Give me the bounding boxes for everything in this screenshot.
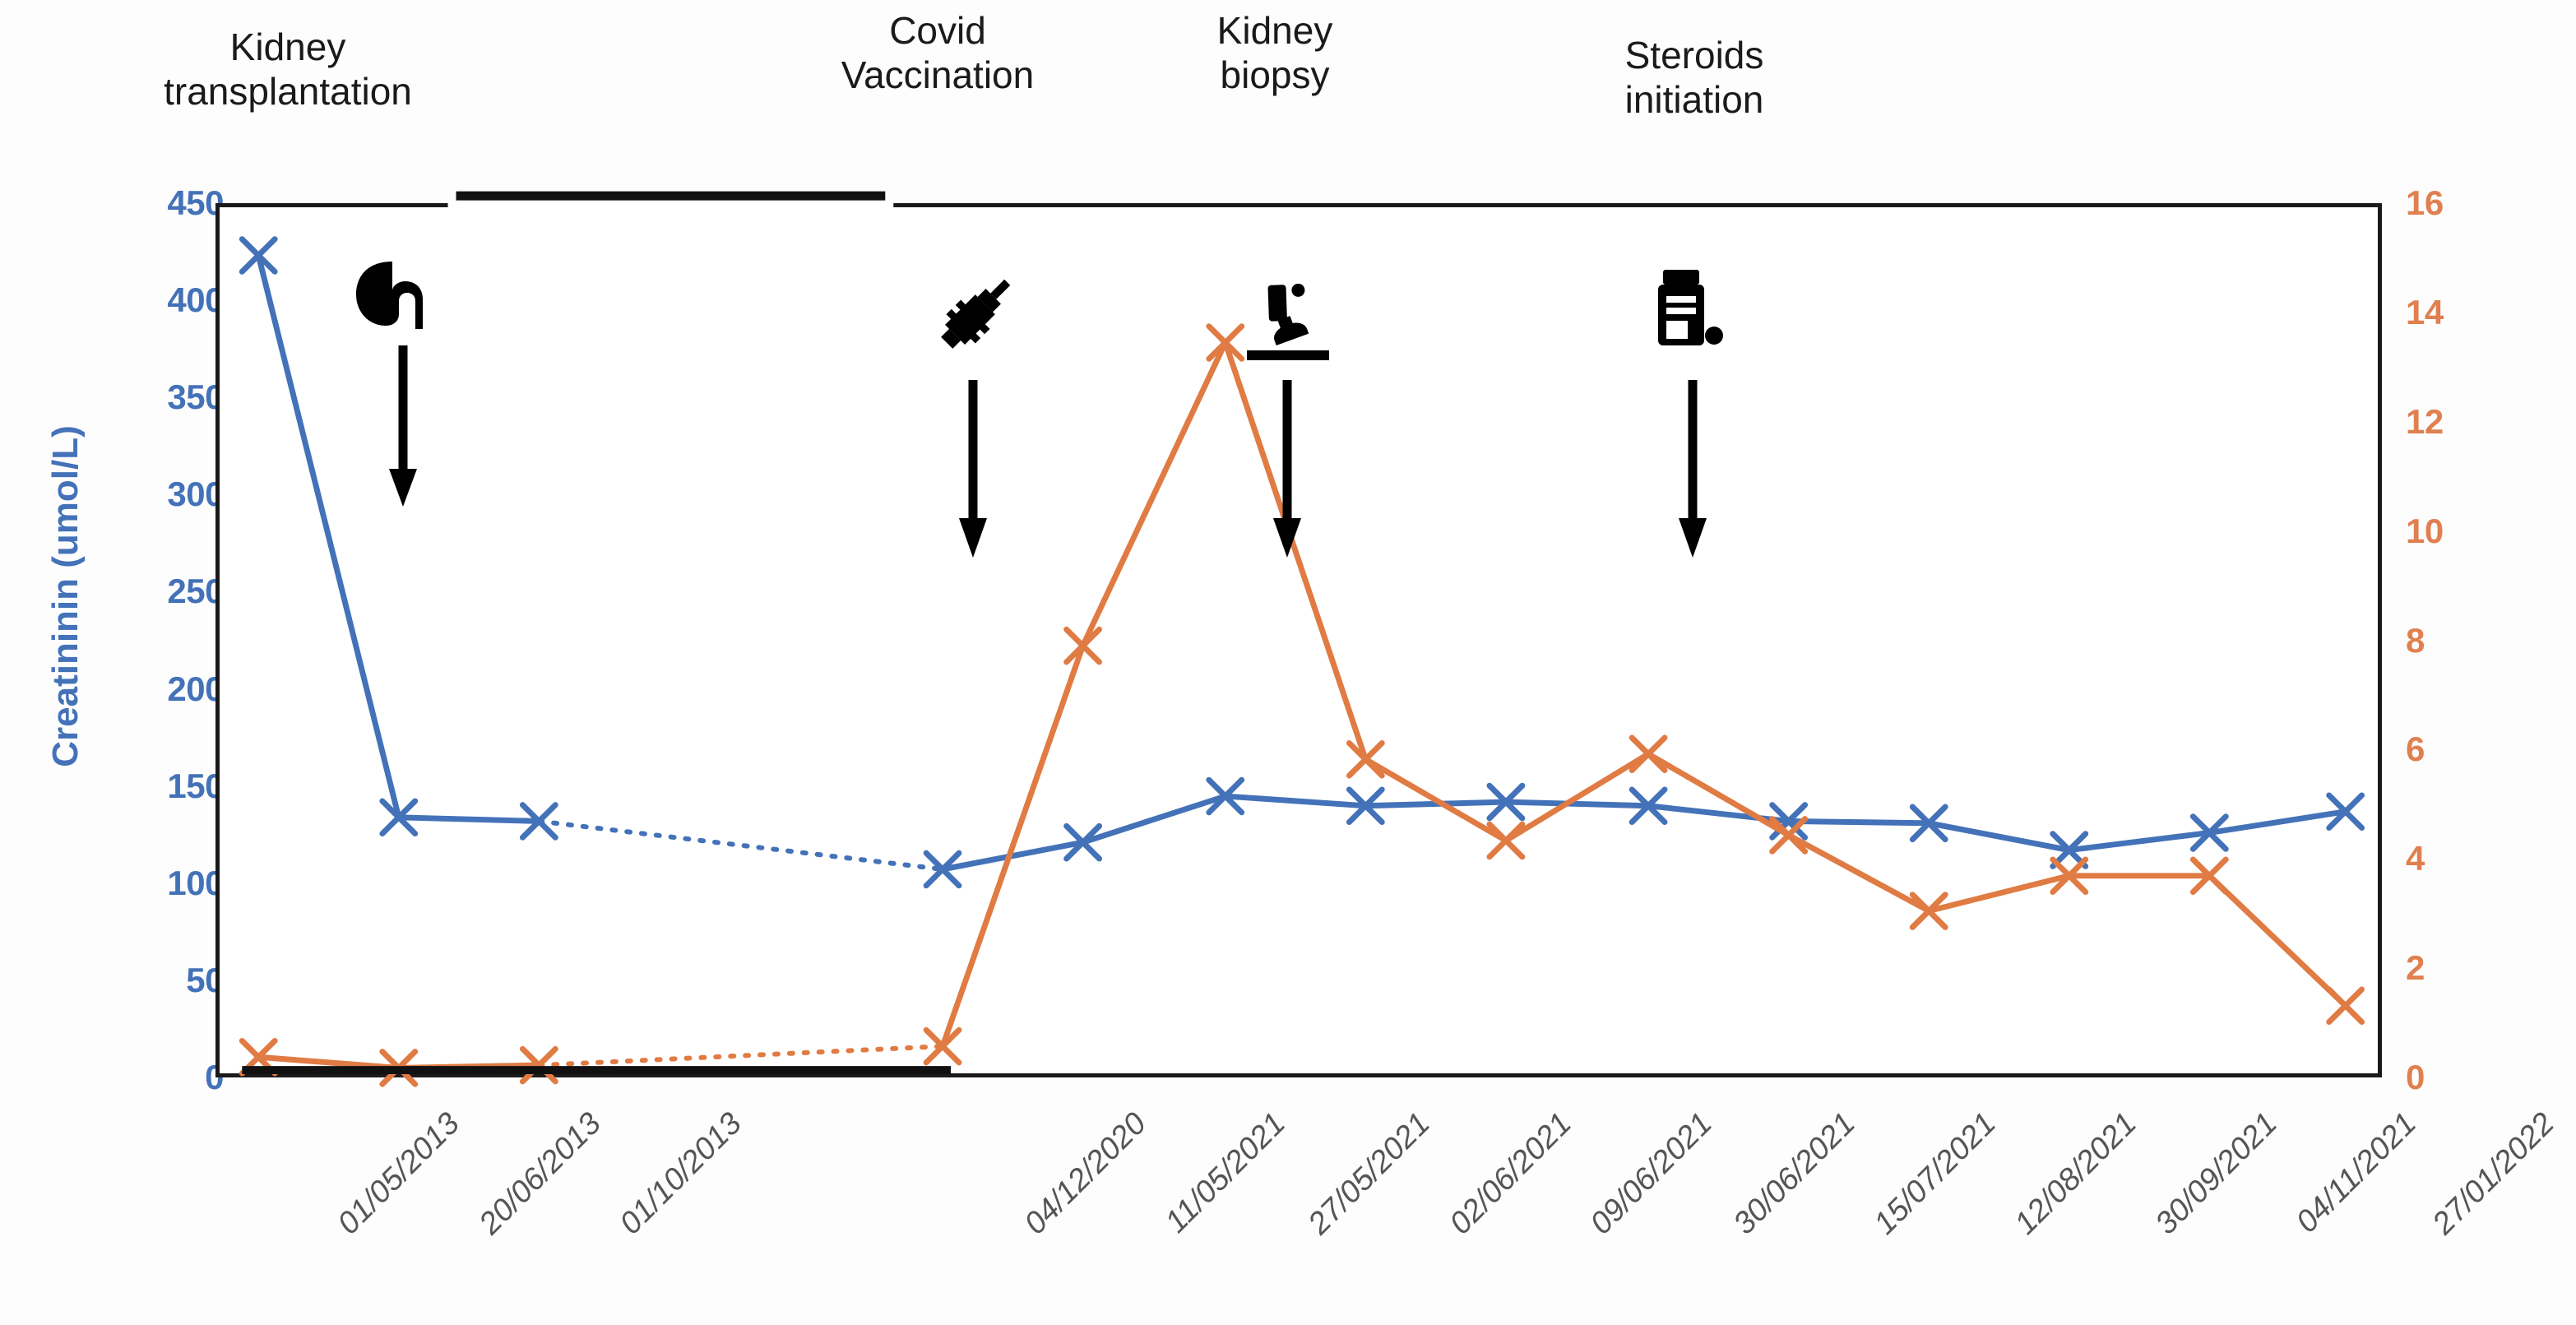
series-line-segment (399, 818, 540, 822)
x-axis-tick: 01/10/2013 (614, 1106, 749, 1242)
y-axis-right-tick: 8 (2406, 621, 2521, 660)
series-line-segment (1648, 806, 1789, 822)
data-point-marker (926, 1030, 959, 1063)
series-line-segment (1506, 754, 1648, 841)
arrow-down-icon-2 (957, 380, 989, 565)
series-line-segment (1789, 835, 1930, 910)
annotation-line-2: biopsy (1151, 53, 1398, 97)
x-axis-tick: 09/06/2021 (1584, 1106, 1720, 1242)
annotation-kidney-biopsy: Kidney biopsy (1151, 8, 1398, 98)
data-point-marker (1349, 743, 1382, 776)
x-axis-tick: 12/08/2021 (2008, 1106, 2144, 1242)
series-line-segment (1929, 823, 2069, 850)
y-axis-right-tick: 14 (2406, 293, 2521, 332)
series-line-segment (1789, 821, 1930, 822)
x-axis-tick: 04/11/2021 (2289, 1106, 2423, 1240)
y-axis-left-tick: 50 (76, 961, 224, 1000)
y-axis-right-tick: 10 (2406, 512, 2521, 551)
y-axis-right-tick: 6 (2406, 730, 2521, 769)
annotation-line-1: Steroids (1554, 33, 1834, 77)
y-axis-left-tick: 450 (76, 183, 224, 223)
y-axis-right-tick: 2 (2406, 948, 2521, 988)
y-axis-right-title: Proteinuria (g/day) (2570, 226, 2576, 966)
y-axis-right-tick: 12 (2406, 402, 2521, 442)
annotation-kidney-transplantation: Kidney transplantation (115, 25, 461, 114)
series-line-segment (1083, 796, 1225, 842)
y-axis-right-tick: 4 (2406, 839, 2521, 878)
x-axis-tick: 27/01/2022 (2426, 1106, 2562, 1242)
x-axis-tick: 02/06/2021 (1443, 1106, 1578, 1242)
annotation-line-2: Vaccination (790, 53, 1086, 97)
y-axis-left-tick: 300 (76, 475, 224, 514)
annotation-line-2: initiation (1554, 77, 1834, 122)
y-axis-left-tick: 100 (76, 864, 224, 903)
y-axis-left-tick: 350 (76, 378, 224, 417)
x-axis-tick: 30/09/2021 (2149, 1106, 2285, 1242)
arrow-down-icon-3 (1271, 380, 1304, 565)
arrow-down-icon-1 (387, 345, 419, 514)
series-line-segment (2209, 876, 2345, 1006)
x-axis-tick: 30/06/2021 (1726, 1106, 1862, 1242)
x-axis-tick: 20/06/2013 (472, 1106, 608, 1242)
series-line-segment (1506, 802, 1648, 806)
data-point-marker (1632, 738, 1665, 771)
x-axis-tick: 27/05/2021 (1302, 1106, 1438, 1242)
data-point-marker (2329, 989, 2362, 1022)
series-line-segment (1083, 343, 1225, 646)
annotation-steroids-initiation: Steroids initiation (1554, 33, 1834, 123)
series-line-segment (1648, 754, 1789, 836)
x-axis-tick: 15/07/2021 (1868, 1106, 2004, 1242)
data-point-marker (1067, 629, 1100, 662)
pill-bottle-icon (1638, 263, 1737, 373)
syringe-icon (920, 263, 1026, 382)
y-axis-right-tick: 0 (2406, 1058, 2521, 1097)
y-axis-left-tick: 0 (76, 1058, 224, 1097)
annotation-line-1: Kidney (1151, 8, 1398, 53)
series-line-segment (539, 1046, 943, 1065)
microscope-icon (1234, 271, 1341, 390)
x-axis-tick: 11/05/2021 (1158, 1106, 1292, 1240)
annotation-covid-vaccination: Covid Vaccination (790, 8, 1086, 98)
series-line-segment (539, 821, 943, 869)
y-axis-left-tick: 250 (76, 572, 224, 611)
data-point-marker (1490, 824, 1522, 857)
annotation-line-2: transplantation (115, 69, 461, 114)
series-line-segment (2069, 833, 2210, 850)
y-axis-left-tick: 150 (76, 767, 224, 806)
arrow-down-icon-4 (1676, 380, 1709, 565)
x-axis-tick: 01/05/2013 (331, 1106, 467, 1242)
x-axis-tick: 04/12/2020 (1018, 1106, 1154, 1242)
kidney-icon (341, 247, 440, 357)
series-line-segment (1929, 876, 2069, 911)
annotation-line-1: Covid (790, 8, 1086, 53)
chart-figure: Kidney transplantation Covid Vaccination… (0, 0, 2576, 1325)
y-axis-left-tick: 400 (76, 280, 224, 320)
annotation-line-1: Kidney (115, 25, 461, 69)
series-line-segment (2209, 812, 2345, 833)
y-axis-left-tick: 200 (76, 669, 224, 709)
series-line-segment (1225, 796, 1366, 806)
y-axis-right-tick: 16 (2406, 183, 2521, 223)
